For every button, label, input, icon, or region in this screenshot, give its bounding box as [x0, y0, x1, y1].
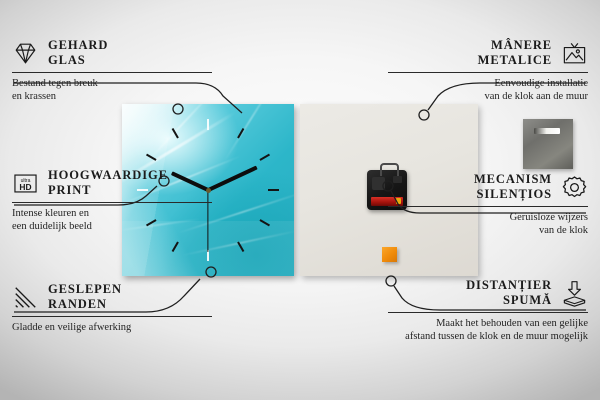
mechanism-chip — [372, 177, 385, 190]
clock-tick — [207, 119, 209, 130]
feature-header: GESLEPEN RANDEN — [12, 282, 212, 312]
feature-manere-metalice: MÂNERE METALICE Eenvoudige installatie v… — [388, 38, 588, 103]
feature-description: Gladde en veilige afwerking — [12, 321, 212, 334]
feature-description: Maakt het behouden van een gelijke afsta… — [388, 317, 588, 343]
feature-header: GEHARD GLAS — [12, 38, 212, 68]
feature-divider — [388, 312, 588, 313]
diamond-icon — [12, 40, 39, 67]
bevelled-edge-icon — [12, 284, 39, 311]
feature-title: MECANISM SILENȚIOS — [474, 172, 552, 202]
feature-title: DISTANȚIER SPUMĂ — [466, 278, 552, 308]
feature-divider — [12, 316, 212, 317]
foam-spacer — [382, 247, 397, 262]
feature-title: GESLEPEN RANDEN — [48, 282, 122, 312]
feature-header: DISTANȚIER SPUMĂ — [388, 278, 588, 308]
feature-divider — [12, 72, 212, 73]
feature-header: MÂNERE METALICE — [388, 38, 588, 68]
product-infographic: GEHARD GLAS Bestand tegen breuk en krass… — [0, 0, 600, 400]
feature-header: ultra HD HOOGWAARDIGE PRINT — [12, 168, 212, 198]
feature-description: Bestand tegen breuk en krassen — [12, 77, 212, 103]
feature-mecanism-silentios: MECANISM SILENȚIOS Geruisloze wijzers va… — [388, 172, 588, 237]
clock-tick — [268, 189, 279, 191]
feature-divider — [12, 202, 212, 203]
feature-header: MECANISM SILENȚIOS — [388, 172, 588, 202]
feature-description: Intense kleuren en een duidelijk beeld — [12, 207, 212, 233]
feature-title: MÂNERE METALICE — [478, 38, 552, 68]
feature-description: Eenvoudige installatie van de klok aan d… — [388, 77, 588, 103]
feature-title: GEHARD GLAS — [48, 38, 108, 68]
feature-distantier-spuma: DISTANȚIER SPUMĂ Maakt het behouden van … — [388, 278, 588, 343]
metal-hanger-closeup — [523, 119, 573, 169]
feature-divider — [388, 206, 588, 207]
feature-gehard-glas: GEHARD GLAS Bestand tegen breuk en krass… — [12, 38, 212, 103]
picture-hanger-icon — [561, 40, 588, 67]
spacer-layers-icon — [561, 280, 588, 307]
gear-icon — [561, 174, 588, 201]
feature-title: HOOGWAARDIGE PRINT — [48, 168, 168, 198]
feature-divider — [388, 72, 588, 73]
feature-hoogwaardige-print: ultra HD HOOGWAARDIGE PRINT Intense kleu… — [12, 168, 212, 233]
ultra-hd-icon: ultra HD — [12, 170, 39, 197]
svg-text:HD: HD — [19, 181, 31, 191]
feature-geslepen-randen: GESLEPEN RANDEN Gladde en veilige afwerk… — [12, 282, 212, 334]
feature-description: Geruisloze wijzers van de klok — [388, 211, 588, 237]
